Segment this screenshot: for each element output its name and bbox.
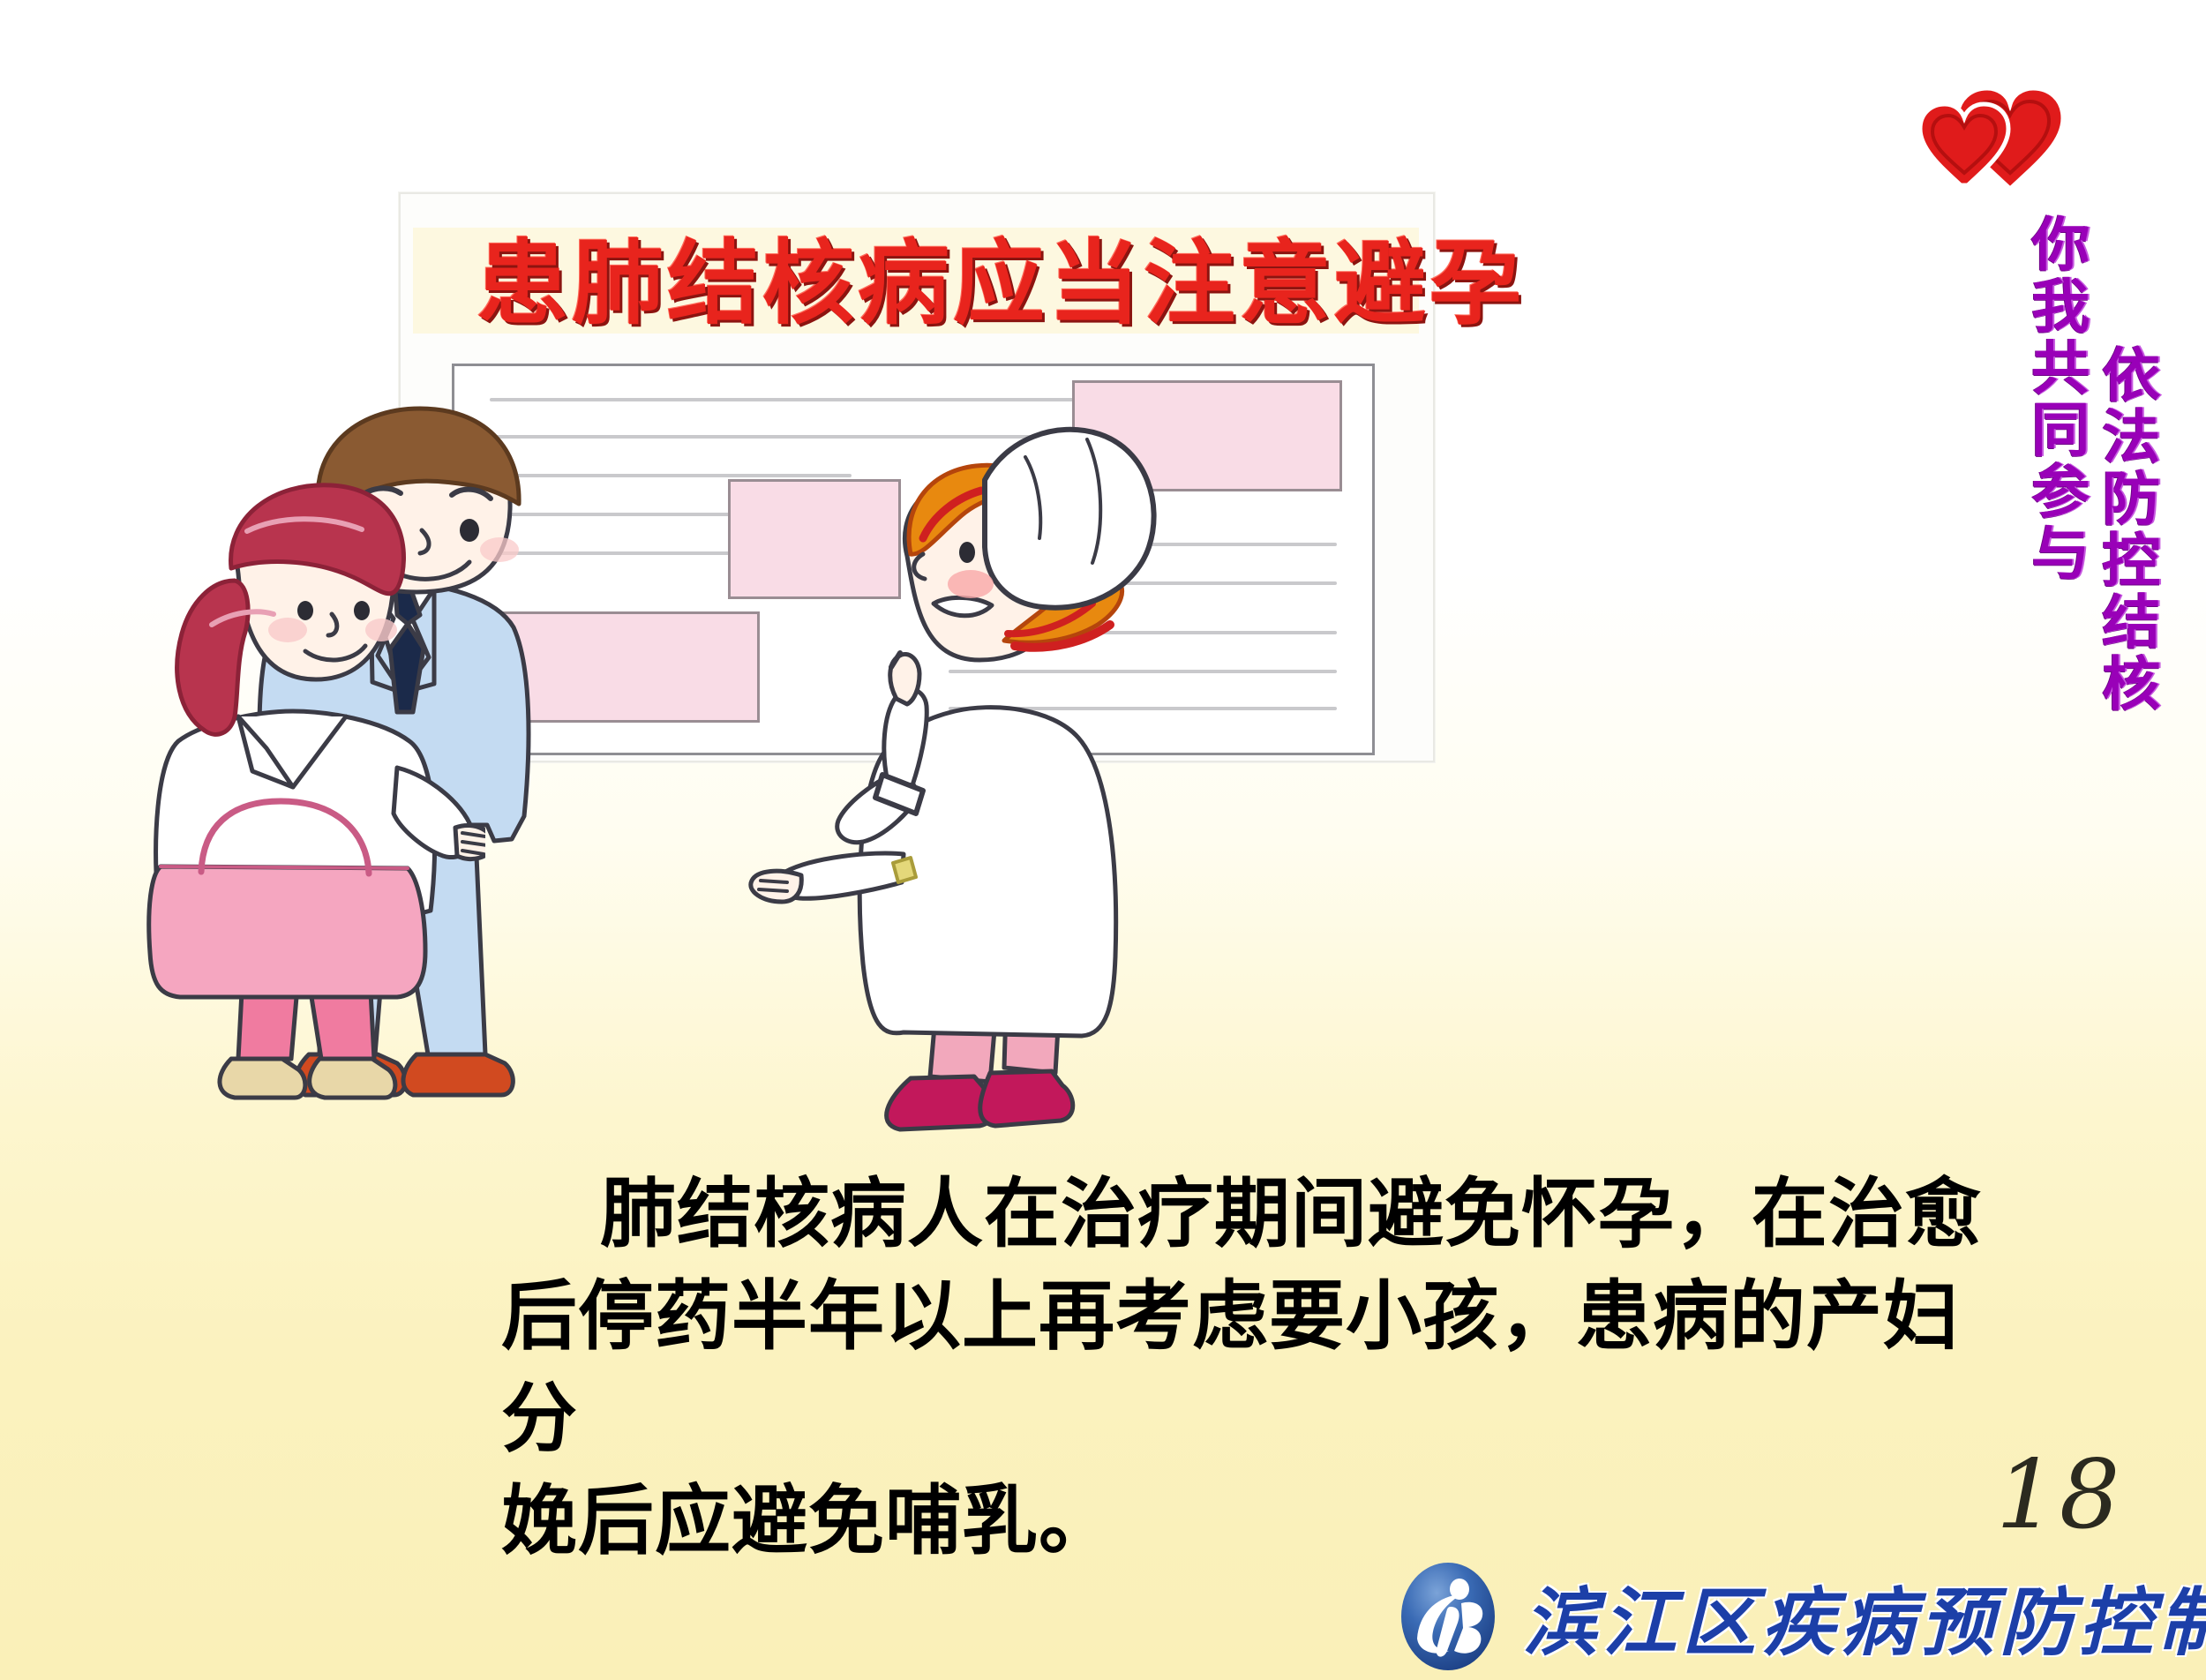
slide-canvas: 你我共同参与 依法防控结核 患肺结核病应当注意避孕 (0, 0, 2206, 1680)
poster-title: 患肺结核病应当注意避孕 (476, 235, 1377, 334)
figure-female-doctor (715, 424, 1262, 1165)
footer-bar: 滨江区疾病预防控制中心 (1392, 1558, 2206, 1675)
organization-name: 滨江区疾病预防控制中心 (1523, 1564, 2206, 1670)
body-text-line-1: 肺结核病人在治疗期间避免怀孕，在治愈 (501, 1163, 2001, 1265)
slogan-line-1: 你我共同参与 (2026, 214, 2085, 584)
page-number: 18 (1996, 1440, 2122, 1550)
cdc-oval-logo-icon (1392, 1561, 1504, 1672)
figure-woman-with-pink-bag (106, 476, 485, 1147)
double-heart-icon (1915, 60, 2082, 192)
body-text-line-3: 娩后应避免哺乳。 (501, 1470, 2001, 1572)
body-text-line-2: 后停药半年以上再考虑要小孩，患病的产妇分 (501, 1265, 2001, 1470)
illustration-scene: 患肺结核病应当注意避孕 (0, 0, 1544, 1165)
slogan-line-2: 依法防控结核 (2097, 344, 2156, 715)
body-text-block: 肺结核病人在治疗期间避免怀孕，在治愈 后停药半年以上再考虑要小孩，患病的产妇分 … (501, 1163, 2001, 1572)
